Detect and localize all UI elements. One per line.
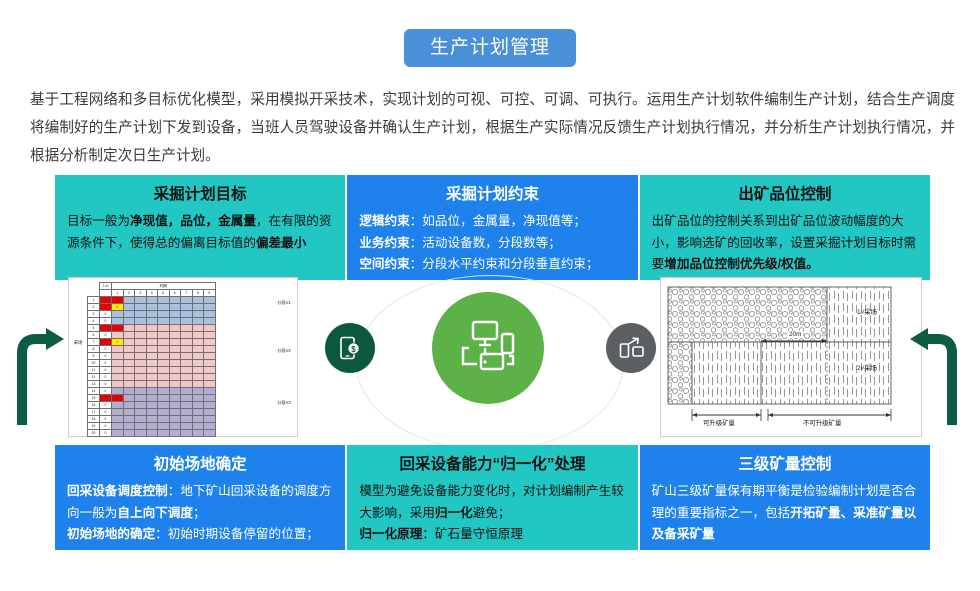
grid-period-label: 8	[192, 290, 204, 297]
intro-paragraph: 基于工程网络和多目标优化模型，采用模拟开采技术，实现计划的可视、可控、可调、可执…	[30, 86, 955, 170]
grid-row-id: 13	[88, 381, 100, 388]
grid-flag-cell: 0	[100, 381, 112, 388]
grid-cell	[123, 416, 135, 423]
grid-cell	[204, 346, 216, 353]
grid-cell	[146, 388, 158, 395]
grid-cell	[192, 353, 204, 360]
grid-cell	[112, 430, 124, 437]
grid-cell	[112, 367, 124, 374]
grid-cell	[204, 353, 216, 360]
grid-row: 190	[88, 423, 238, 430]
grid-cell	[204, 367, 216, 374]
panel-body: 目标一般为净现值，品位，金属量，在有限的资源条件下，使得总的偏离目标值的偏差最小	[67, 211, 333, 254]
grid-cell	[169, 353, 181, 360]
grid-period-header: 时期	[112, 283, 216, 290]
panel-title: 回采设备能力“归一化”处理	[359, 455, 625, 475]
grid-cell	[146, 423, 158, 430]
grid-row: 180	[88, 416, 238, 423]
panel-title: 采掘计划目标	[67, 185, 333, 205]
panel-text-line: 逻辑约束：如品位，金属量，净现值等；	[359, 211, 625, 233]
grid-cell	[192, 318, 204, 325]
grid-cell	[123, 388, 135, 395]
grid-cell	[192, 416, 204, 423]
grid-cell	[123, 395, 135, 402]
grid-cell	[204, 388, 216, 395]
grid-cell	[181, 388, 193, 395]
grid-cell	[123, 304, 135, 311]
grid-cell	[204, 311, 216, 318]
grid-cell	[146, 311, 158, 318]
grid-cell	[204, 395, 216, 402]
grid-cell	[112, 360, 124, 367]
stope-label-1: 1#采场	[857, 307, 877, 316]
grid-cell	[112, 416, 124, 423]
grid-cell	[181, 339, 193, 346]
panel-initial-site-determination: 初始场地确定回采设备调度控制：地下矿山回采设备的调度方向一般为自上向下调度；初始…	[55, 445, 345, 550]
middle-graphics-strip: 采场 1=0时期12345678911121☆30405116071☆80901…	[0, 283, 980, 443]
grid-cell	[181, 395, 193, 402]
schedule-grid-table: 1=0时期12345678911121☆30405116071☆80901001…	[87, 282, 238, 437]
production-schedule-grid-image: 采场 1=0时期12345678911121☆30405116071☆80901…	[68, 277, 298, 437]
grid-row: 100	[88, 360, 238, 367]
grid-cell	[112, 353, 124, 360]
panel-title: 出矿品位控制	[652, 185, 918, 205]
panel-mining-plan-constraint: 采掘计划约束逻辑约束：如品位，金属量，净现值等；业务约束：活动设备数，分段数等；…	[347, 175, 637, 280]
upgradable-reserve-label: 可升级矿量	[703, 418, 735, 427]
grid-row-id: 5	[88, 325, 100, 332]
grid-cell	[204, 430, 216, 437]
grid-cell	[158, 346, 170, 353]
grid-cell	[181, 360, 193, 367]
grid-flag-cell: 1	[100, 325, 112, 332]
grid-flag-cell: 0	[100, 367, 112, 374]
grid-cell	[158, 297, 170, 304]
grid-row: 80	[88, 346, 238, 353]
grid-cell	[146, 430, 158, 437]
grid-cell	[135, 339, 147, 346]
grid-flag-cell: 1	[100, 304, 112, 311]
panel-title: 采掘计划约束	[359, 185, 625, 205]
grid-cell	[123, 339, 135, 346]
grid-cell	[112, 423, 124, 430]
grid-cell	[123, 381, 135, 388]
grid-cell	[135, 325, 147, 332]
grid-row: 200	[88, 430, 238, 437]
grid-cell	[135, 311, 147, 318]
grid-cell	[123, 311, 135, 318]
grid-cell	[192, 395, 204, 402]
grid-cell	[169, 332, 181, 339]
grid-cell	[123, 325, 135, 332]
grid-cell	[146, 304, 158, 311]
grid-cell	[123, 430, 135, 437]
grid-cell	[158, 332, 170, 339]
grid-cell	[181, 367, 193, 374]
panel-text-line: 目标一般为净现值，品位，金属量，在有限的资源条件下，使得总的偏离目标值的偏差最小	[67, 211, 333, 254]
panel-text-line: 出矿品位的控制关系到出矿品位波动幅度的大小，影响选矿的回收率，设置采掘计划目标时…	[652, 211, 918, 276]
grid-cell	[169, 367, 181, 374]
non-upgradable-reserve-label: 不可升级矿量	[803, 418, 841, 427]
panel-body: 逻辑约束：如品位，金属量，净现值等；业务约束：活动设备数，分段数等；空间约束：分…	[359, 211, 625, 276]
grid-cell	[192, 325, 204, 332]
grid-flag-cell: 0	[100, 409, 112, 416]
grid-cell	[146, 332, 158, 339]
grid-cell	[204, 374, 216, 381]
grid-cell	[192, 402, 204, 409]
grid-row: 21☆	[88, 304, 238, 311]
grid-row-id: 18	[88, 416, 100, 423]
grid-flag-cell: 1	[100, 339, 112, 346]
grid-period-label: 7	[181, 290, 193, 297]
grid-cell	[192, 409, 204, 416]
grid-row-id: 1	[88, 297, 100, 304]
grid-cell	[169, 318, 181, 325]
grid-flag-cell: 0	[100, 388, 112, 395]
panel-body: 出矿品位的控制关系到出矿品位波动幅度的大小，影响选矿的回收率，设置采掘计划目标时…	[652, 211, 918, 276]
grid-cell	[204, 402, 216, 409]
grid-cell	[169, 395, 181, 402]
grid-row: 1511	[88, 395, 238, 402]
grid-row: 130	[88, 381, 238, 388]
panel-text-line: 模型为避免设备能力变化时，对计划编制产生较大影响，采用归一化避免；	[359, 481, 625, 524]
grid-period-label: 9	[204, 290, 216, 297]
grid-cell	[169, 388, 181, 395]
grid-cell	[204, 297, 216, 304]
grid-cell	[135, 374, 147, 381]
grid-cell	[123, 332, 135, 339]
grid-row: 71☆	[88, 339, 238, 346]
page-title: 生产计划管理	[404, 29, 576, 67]
grid-cell	[158, 360, 170, 367]
grid-cell	[123, 409, 135, 416]
grid-cell	[135, 395, 147, 402]
grid-cell	[181, 318, 193, 325]
grid-cell	[158, 304, 170, 311]
grid-row-id: 8	[88, 346, 100, 353]
grid-cell	[146, 353, 158, 360]
grid-cell	[112, 409, 124, 416]
grid-cell	[181, 332, 193, 339]
grid-cell	[146, 339, 158, 346]
panel-text-line: 归一化原理：矿石量守恒原理	[359, 524, 625, 546]
grid-cell	[112, 402, 124, 409]
panel-ore-grade-control: 出矿品位控制出矿品位的控制关系到出矿品位波动幅度的大小，影响选矿的回收率，设置采…	[640, 175, 930, 280]
grid-row-id: 4	[88, 318, 100, 325]
grid-flag-cell: 0	[100, 430, 112, 437]
grid-cell	[158, 339, 170, 346]
grid-cell	[135, 360, 147, 367]
grid-cell	[181, 297, 193, 304]
grid-row-id: 10	[88, 360, 100, 367]
panel-text-line: 业务约束：活动设备数，分段数等；	[359, 233, 625, 255]
grid-cell	[158, 325, 170, 332]
grid-cell	[146, 346, 158, 353]
grid-cell	[192, 311, 204, 318]
grid-period-label: 6	[169, 290, 181, 297]
grid-cell	[158, 416, 170, 423]
grid-flag-cell: 0	[100, 353, 112, 360]
grid-cell	[123, 367, 135, 374]
grid-cell	[192, 374, 204, 381]
grid-cell	[135, 430, 147, 437]
grid-cell	[146, 409, 158, 416]
block-label-2: 分段V2	[274, 348, 294, 353]
grid-row-id: 19	[88, 423, 100, 430]
grid-row: 140	[88, 388, 238, 395]
grid-cell	[204, 339, 216, 346]
stope-label-2: 2#采场	[857, 363, 877, 372]
grid-cell	[192, 304, 204, 311]
grid-cell	[181, 430, 193, 437]
grid-cell: 1	[112, 395, 124, 402]
panel-equipment-normalization: 回采设备能力“归一化”处理模型为避免设备能力变化时，对计划编制产生较大影响，采用…	[347, 445, 637, 550]
grid-cell	[158, 430, 170, 437]
grid-cell	[135, 346, 147, 353]
grid-flag-cell: 0	[100, 423, 112, 430]
grid-cell	[169, 416, 181, 423]
grid-flag-cell: 0	[100, 360, 112, 367]
panel-body: 矿山三级矿量保有期平衡是检验编制计划是否合理的重要指标之一，包括开拓矿量、采准矿…	[652, 481, 918, 546]
grid-cell	[169, 430, 181, 437]
block-label-1: 分段V1	[274, 300, 294, 305]
grid-period-label: 5	[158, 290, 170, 297]
panel-title: 初始场地确定	[67, 455, 333, 475]
grid-row-id: 20	[88, 430, 100, 437]
grid-cell	[158, 388, 170, 395]
grid-cell	[169, 360, 181, 367]
grid-cell	[123, 360, 135, 367]
grid-cell	[135, 381, 147, 388]
grid-row-axis-label: 采场	[73, 340, 83, 346]
grid-cell: ☆	[112, 304, 124, 311]
grid-cell	[135, 388, 147, 395]
mobile-payment-icon: $	[325, 323, 375, 373]
grid-cell	[135, 332, 147, 339]
panel-text-line: 空间约束：分段水平约束和分段垂直约束；	[359, 254, 625, 276]
grid-cell	[146, 318, 158, 325]
grid-cell	[158, 311, 170, 318]
grid-cell	[158, 402, 170, 409]
grid-row: 40	[88, 318, 238, 325]
grid-cell	[112, 346, 124, 353]
grid-row: 120	[88, 374, 238, 381]
grid-cell	[169, 346, 181, 353]
grid-cell	[181, 409, 193, 416]
grid-row-id: 12	[88, 374, 100, 381]
grid-cell	[146, 325, 158, 332]
grid-cell	[204, 304, 216, 311]
grid-cell	[158, 374, 170, 381]
grid-cell	[169, 423, 181, 430]
grid-cell	[192, 346, 204, 353]
grid-period-label: 1	[112, 290, 124, 297]
grid-cell	[181, 353, 193, 360]
grid-cell	[135, 416, 147, 423]
grid-flag-cell: 0	[100, 416, 112, 423]
grid-row: 110	[88, 367, 238, 374]
grid-row-id: 2	[88, 304, 100, 311]
grid-row-id: 14	[88, 388, 100, 395]
grid-cell	[181, 346, 193, 353]
grid-cell: 1	[112, 297, 124, 304]
grid-cell	[169, 409, 181, 416]
grid-cell	[112, 311, 124, 318]
device-transfer-icon	[606, 323, 656, 373]
grid-cell	[169, 311, 181, 318]
grid-cell	[146, 402, 158, 409]
panel-body: 回采设备调度控制：地下矿山回采设备的调度方向一般为自上向下调度；初始场地的确定：…	[67, 481, 333, 546]
grid-flag-cell: 0	[100, 311, 112, 318]
grid-cell: 1	[112, 325, 124, 332]
grid-cell	[112, 381, 124, 388]
grid-cell	[158, 423, 170, 430]
grid-cell	[204, 409, 216, 416]
panel-text-line: 回采设备调度控制：地下矿山回采设备的调度方向一般为自上向下调度；	[67, 481, 333, 524]
panel-title: 三级矿量控制	[652, 455, 918, 475]
panel-body: 模型为避免设备能力变化时，对计划编制产生较大影响，采用归一化避免；归一化原理：矿…	[359, 481, 625, 546]
grid-cell	[146, 297, 158, 304]
grid-cell	[169, 304, 181, 311]
flow-arrow-right-icon	[908, 313, 960, 430]
grid-cell	[112, 318, 124, 325]
grid-cell	[181, 423, 193, 430]
grid-cell	[135, 318, 147, 325]
grid-row-id: 3	[88, 311, 100, 318]
grid-cell	[192, 381, 204, 388]
grid-row: 90	[88, 353, 238, 360]
grid-cell	[146, 360, 158, 367]
grid-cell	[169, 325, 181, 332]
grid-cell	[169, 339, 181, 346]
block-label-3: 分段V3	[274, 400, 294, 405]
grid-row-id: 7	[88, 339, 100, 346]
grid-cell: ☆	[112, 339, 124, 346]
grid-period-label: 2	[123, 290, 135, 297]
grid-cell	[158, 381, 170, 388]
grid-cell	[181, 304, 193, 311]
grid-cell	[135, 297, 147, 304]
panel-three-level-reserve-control: 三级矿量控制矿山三级矿量保有期平衡是检验编制计划是否合理的重要指标之一，包括开拓…	[640, 445, 930, 550]
grid-row-id: 11	[88, 367, 100, 374]
grid-cell	[123, 353, 135, 360]
grid-cell	[146, 395, 158, 402]
grid-cell	[204, 423, 216, 430]
grid-cell	[204, 360, 216, 367]
production-plan-infographic: 生产计划管理 基于工程网络和多目标优化模型，采用模拟开采技术，实现计划的可视、可…	[0, 0, 980, 591]
grid-flag-cell: 0	[100, 318, 112, 325]
diagram-area: 采掘计划目标目标一般为净现值，品位，金属量，在有限的资源条件下，使得总的偏离目标…	[0, 175, 980, 570]
grid-cell	[181, 374, 193, 381]
panel-text-line: 矿山三级矿量保有期平衡是检验编制计划是否合理的重要指标之一，包括开拓矿量、采准矿…	[652, 481, 918, 546]
grid-cell	[192, 388, 204, 395]
grid-cell	[192, 339, 204, 346]
grid-cell	[146, 416, 158, 423]
grid-cell	[135, 304, 147, 311]
grid-row: 170	[88, 409, 238, 416]
grid-cell	[181, 325, 193, 332]
grid-cell	[169, 297, 181, 304]
grid-cell	[135, 367, 147, 374]
grid-cell	[135, 402, 147, 409]
bottom-panel-row: 初始场地确定回采设备调度控制：地下矿山回采设备的调度方向一般为自上向下调度；初始…	[55, 445, 930, 550]
grid-cell	[158, 353, 170, 360]
grid-cell	[204, 332, 216, 339]
grid-cell	[112, 332, 124, 339]
grid-cell	[158, 409, 170, 416]
grid-row: 511	[88, 325, 238, 332]
grid-cell	[135, 409, 147, 416]
grid-cell	[181, 402, 193, 409]
grid-cell	[112, 388, 124, 395]
grid-cell	[192, 430, 204, 437]
grid-cell	[181, 416, 193, 423]
dimension-label-20m: 20m	[787, 331, 803, 338]
panel-mining-plan-goal: 采掘计划目标目标一般为净现值，品位，金属量，在有限的资源条件下，使得总的偏离目标…	[55, 175, 345, 280]
grid-cell	[123, 346, 135, 353]
grid-flag-cell: 0	[100, 346, 112, 353]
grid-row-id: 9	[88, 353, 100, 360]
grid-cell	[192, 423, 204, 430]
mining-section-diagram-image: 20m 1#采场 2#采场 可升级矿量 不可升级矿量	[660, 277, 922, 437]
grid-flag-cell: 0	[100, 402, 112, 409]
grid-cell	[123, 374, 135, 381]
grid-row-id: 17	[88, 409, 100, 416]
panel-text-line: 初始场地的确定：初始时期设备停留的位置；	[67, 524, 333, 546]
svg-text:$: $	[351, 345, 356, 354]
grid-row: 60	[88, 332, 238, 339]
grid-cell	[146, 374, 158, 381]
grid-cell	[192, 332, 204, 339]
grid-cell	[192, 297, 204, 304]
grid-cell	[158, 318, 170, 325]
grid-cell	[123, 297, 135, 304]
grid-flag-cell: 0	[100, 374, 112, 381]
grid-cell	[112, 374, 124, 381]
grid-cell	[204, 416, 216, 423]
page-title-container: 生产计划管理	[0, 29, 980, 67]
grid-cell	[158, 367, 170, 374]
grid-cell	[146, 381, 158, 388]
grid-row: 30	[88, 311, 238, 318]
grid-cell	[169, 374, 181, 381]
grid-cell	[146, 367, 158, 374]
grid-cell	[169, 381, 181, 388]
grid-cell	[181, 381, 193, 388]
grid-cell	[123, 318, 135, 325]
grid-flag-cell: 1	[100, 297, 112, 304]
grid-row: 111	[88, 297, 238, 304]
grid-cell	[123, 402, 135, 409]
grid-cell	[204, 318, 216, 325]
grid-flag-cell: 1	[100, 395, 112, 402]
grid-row-id: 16	[88, 402, 100, 409]
grid-row-id: 6	[88, 332, 100, 339]
grid-cell	[181, 311, 193, 318]
grid-flag-cell: 0	[100, 332, 112, 339]
grid-period-label: 3	[135, 290, 147, 297]
flow-arrow-left-icon	[14, 313, 66, 430]
grid-cell	[192, 367, 204, 374]
grid-row-id: 15	[88, 395, 100, 402]
grid-cell	[135, 353, 147, 360]
grid-flag-header: 1=0	[100, 283, 112, 290]
grid-row: 160	[88, 402, 238, 409]
grid-cell	[158, 395, 170, 402]
grid-period-label: 4	[146, 290, 158, 297]
top-panel-row: 采掘计划目标目标一般为净现值，品位，金属量，在有限的资源条件下，使得总的偏离目标…	[55, 175, 930, 280]
grid-cell	[204, 325, 216, 332]
grid-cell	[192, 360, 204, 367]
